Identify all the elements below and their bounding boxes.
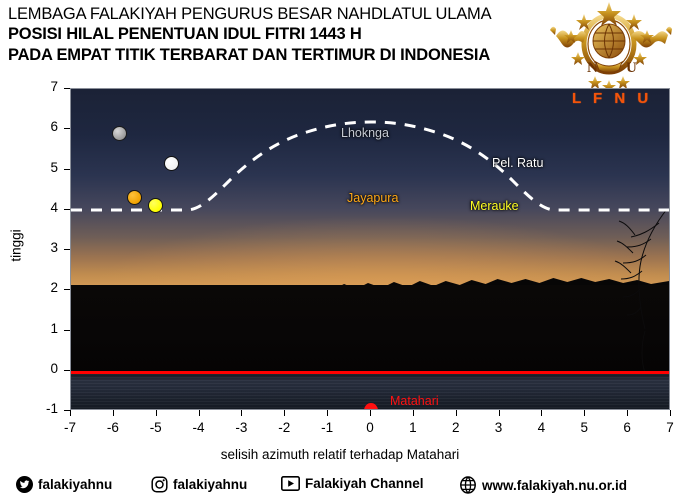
x-tick-label: -6 (93, 420, 133, 435)
lfnu-watermark: L F N U (572, 90, 652, 107)
y-tick-label: 0 (24, 361, 58, 376)
x-tick-label: -3 (221, 420, 261, 435)
y-tick-label: 5 (24, 160, 58, 175)
y-tick-mark (64, 289, 70, 290)
footer-item-website[interactable]: www.falakiyah.nu.or.id (459, 476, 627, 494)
instagram-icon (151, 476, 168, 493)
y-tick-mark (64, 128, 70, 129)
x-tick-label: -5 (136, 420, 176, 435)
x-tick-mark (499, 410, 500, 416)
y-tick-label: -1 (24, 401, 58, 416)
y-tick-mark (64, 410, 70, 411)
twitter-icon (16, 476, 33, 493)
y-tick-mark (64, 370, 70, 371)
data-point-jayapura[interactable] (127, 190, 142, 205)
x-tick-mark (670, 410, 671, 416)
x-tick-label: -7 (50, 420, 90, 435)
y-tick-mark (64, 209, 70, 210)
y-tick-label: 4 (24, 200, 58, 215)
x-tick-label: 1 (393, 420, 433, 435)
footer-item-instagram[interactable]: falakiyahnu (151, 476, 247, 493)
x-tick-label: 2 (436, 420, 476, 435)
label-pel-ratu: Pel. Ratu (492, 156, 543, 170)
x-tick-label: 3 (479, 420, 519, 435)
y-tick-mark (64, 88, 70, 89)
x-tick-mark (156, 410, 157, 416)
x-tick-label: 4 (521, 420, 561, 435)
x-tick-label: 6 (607, 420, 647, 435)
y-tick-label: 6 (24, 119, 58, 134)
x-tick-label: 7 (650, 420, 680, 435)
footer-item-youtube[interactable]: Falakiyah Channel (281, 476, 424, 491)
x-tick-mark (113, 410, 114, 416)
footer-label-twitter: falakiyahnu (38, 477, 112, 492)
y-tick-mark (64, 330, 70, 331)
globe-icon (459, 476, 477, 494)
x-tick-label: -2 (264, 420, 304, 435)
x-tick-mark (241, 410, 242, 416)
x-tick-mark (456, 410, 457, 416)
footer-label-instagram: falakiyahnu (173, 477, 247, 492)
y-tick-label: 2 (24, 280, 58, 295)
x-tick-mark (413, 410, 414, 416)
x-tick-mark (199, 410, 200, 416)
data-point-pel-ratu[interactable] (164, 156, 179, 171)
x-tick-mark (627, 410, 628, 416)
youtube-icon (281, 476, 300, 491)
footer-label-website: www.falakiyah.nu.or.id (482, 478, 627, 493)
x-tick-mark (70, 410, 71, 416)
label-lhoknga: Lhoknga (341, 126, 389, 140)
y-tick-mark (64, 169, 70, 170)
x-tick-label: -1 (307, 420, 347, 435)
x-tick-mark (370, 410, 371, 416)
x-tick-mark (584, 410, 585, 416)
y-tick-label: 1 (24, 321, 58, 336)
y-tick-label: 3 (24, 240, 58, 255)
footer-label-youtube: Falakiyah Channel (305, 476, 424, 491)
y-tick-mark (64, 249, 70, 250)
x-tick-label: 0 (350, 420, 390, 435)
x-tick-mark (327, 410, 328, 416)
label-matahari: Matahari (390, 394, 439, 408)
footer-social-bar: falakiyahnu falakiyahnu Falakiyah Channe… (0, 472, 680, 502)
x-tick-mark (284, 410, 285, 416)
data-point-lhoknga[interactable] (112, 126, 127, 141)
footer-item-twitter[interactable]: falakiyahnu (16, 476, 112, 493)
x-tick-label: -4 (179, 420, 219, 435)
x-tick-label: 5 (564, 420, 604, 435)
y-axis-label: tinggi (9, 206, 24, 286)
chart-container: Lhoknga Pel. Ratu Jayapura Merauke Matah… (0, 0, 680, 502)
x-axis-label: selisih azimuth relatif terhadap Matahar… (0, 447, 680, 462)
y-tick-label: 7 (24, 79, 58, 94)
label-jayapura: Jayapura (347, 191, 398, 205)
x-tick-mark (541, 410, 542, 416)
label-merauke: Merauke (470, 199, 519, 213)
